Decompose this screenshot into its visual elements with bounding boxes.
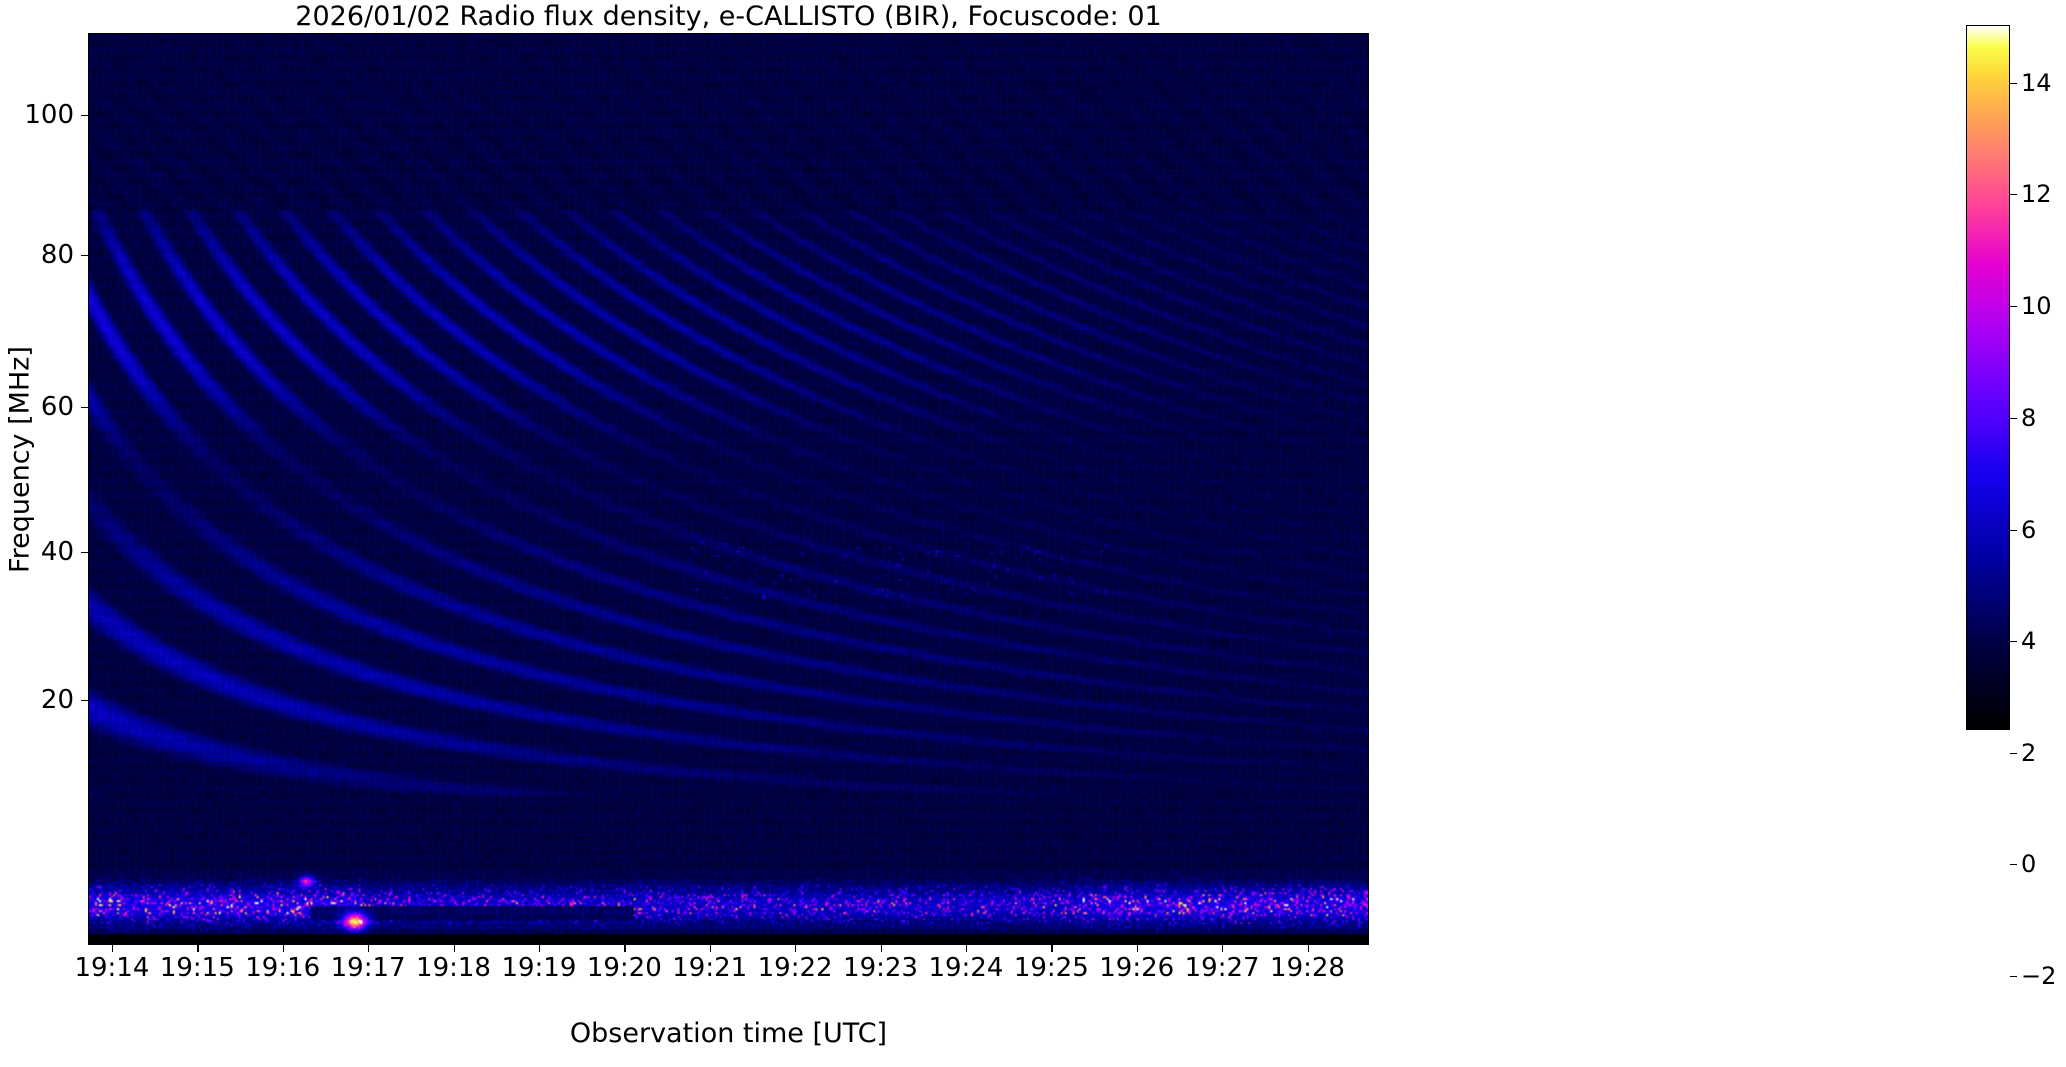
y-tick-label: 40 (0, 539, 74, 565)
x-tick-mark (368, 945, 369, 952)
colorbar-tick-label: 14 (2021, 71, 2052, 95)
y-tick-label: 60 (0, 394, 74, 420)
y-axis-label: Frequency [MHz] (5, 140, 36, 780)
colorbar-tick-label: −2 (2021, 964, 2056, 988)
x-tick-label: 19:27 (1185, 955, 1260, 981)
colorbar-tick-mark (2010, 753, 2017, 754)
colorbar-tick-mark (2010, 641, 2017, 642)
x-tick-mark (197, 945, 198, 952)
x-tick-mark (624, 945, 625, 952)
x-tick-label: 19:22 (758, 955, 833, 981)
x-tick-mark (283, 945, 284, 952)
x-axis-label: Observation time [UTC] (88, 1018, 1369, 1049)
x-tick-label: 19:23 (843, 955, 918, 981)
y-tick-mark (81, 115, 88, 116)
colorbar-tick-label: 4 (2021, 629, 2036, 653)
chart-title: 2026/01/02 Radio flux density, e-CALLIST… (88, 0, 1369, 33)
x-tick-mark (454, 945, 455, 952)
y-tick-label: 100 (0, 102, 74, 128)
x-tick-mark (1051, 945, 1052, 952)
colorbar-tick-mark (2010, 530, 2017, 531)
x-tick-label: 19:19 (501, 955, 576, 981)
colorbar-tick-mark (2010, 83, 2017, 84)
colorbar-tick-label: 8 (2021, 406, 2036, 430)
y-tick-mark (81, 552, 88, 553)
x-tick-mark (539, 945, 540, 952)
x-tick-label: 19:28 (1270, 955, 1345, 981)
x-tick-mark (795, 945, 796, 952)
x-tick-label: 19:24 (928, 955, 1003, 981)
colorbar-tick-mark (2010, 306, 2017, 307)
colorbar-tick-mark (2010, 194, 2017, 195)
x-tick-label: 19:14 (74, 955, 149, 981)
y-tick-mark (81, 407, 88, 408)
x-tick-label: 19:25 (1014, 955, 1089, 981)
x-tick-mark (1308, 945, 1309, 952)
colorbar-tick-label: 10 (2021, 294, 2052, 318)
colorbar-tick-label: 6 (2021, 518, 2036, 542)
colorbar-tick-mark (2010, 976, 2017, 977)
x-tick-mark (1222, 945, 1223, 952)
x-tick-mark (1137, 945, 1138, 952)
x-tick-label: 19:26 (1099, 955, 1174, 981)
x-tick-label: 19:21 (672, 955, 747, 981)
x-tick-label: 19:20 (587, 955, 662, 981)
colorbar (1966, 25, 2010, 730)
colorbar-tick-label: 12 (2021, 182, 2052, 206)
x-tick-mark (881, 945, 882, 952)
x-tick-label: 19:17 (331, 955, 406, 981)
y-tick-label: 80 (0, 242, 74, 268)
x-tick-mark (710, 945, 711, 952)
x-tick-mark (966, 945, 967, 952)
colorbar-tick-label: 2 (2021, 741, 2036, 765)
spectrogram-plot-area (88, 33, 1369, 945)
y-tick-mark (81, 700, 88, 701)
y-tick-label: 20 (0, 687, 74, 713)
colorbar-gradient (1967, 26, 2009, 729)
x-tick-mark (112, 945, 113, 952)
colorbar-tick-mark (2010, 418, 2017, 419)
x-tick-label: 19:18 (416, 955, 491, 981)
y-tick-mark (81, 255, 88, 256)
x-tick-label: 19:15 (160, 955, 235, 981)
spectrogram-image (89, 34, 1368, 944)
colorbar-tick-mark (2010, 864, 2017, 865)
x-tick-label: 19:16 (245, 955, 320, 981)
colorbar-tick-label: 0 (2021, 852, 2036, 876)
